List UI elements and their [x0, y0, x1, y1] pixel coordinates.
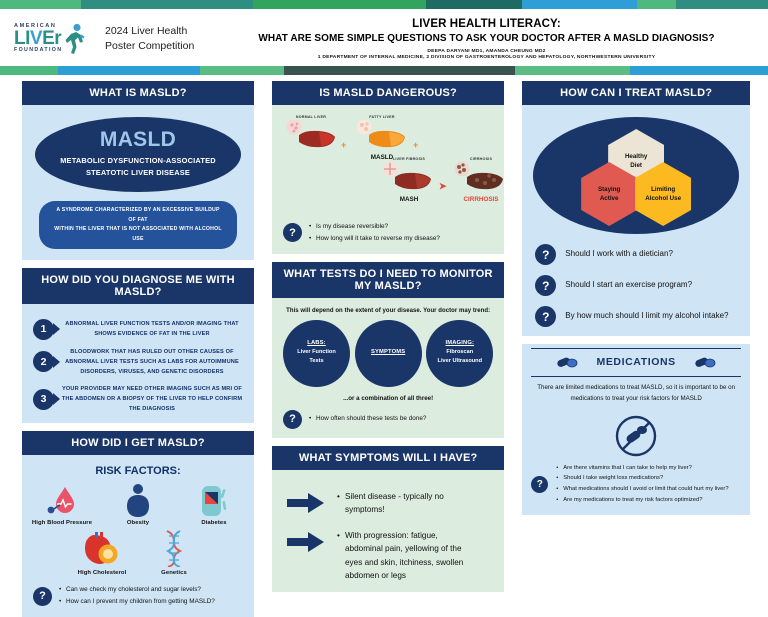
risk-factor-item: Diabetes	[183, 481, 245, 526]
hexagon-line-2: Alcohol Use	[645, 194, 681, 203]
stripe-segment	[58, 66, 200, 75]
diagnosis-number-3: 3	[33, 389, 54, 410]
medications-title: MEDICATIONS	[596, 356, 675, 368]
tests-combination-note: ...or a combination of all three!	[281, 395, 495, 402]
risk-factors-title: RISK FACTORS:	[31, 465, 245, 477]
stripe-segment	[0, 0, 81, 9]
treatment-question: By how much should I limit my alcohol in…	[565, 310, 728, 323]
section-what-is-masld: WHAT IS MASLD? MASLD METABOLIC DYSFUNCTI…	[22, 81, 254, 260]
masld-oval: MASLD METABOLIC DYSFUNCTION-ASSOCIATED S…	[35, 117, 241, 192]
section-is-masld-dangerous: IS MASLD DANGEROUS? NORMAL LIVER	[272, 81, 504, 254]
stripe-segment	[530, 0, 638, 9]
test-circle-line: Fibroscan	[446, 348, 473, 357]
medications-questions: ? Are there vitamins that I can take to …	[531, 463, 741, 506]
pill-icon-right	[694, 354, 716, 370]
liver-stage-name: MASH	[381, 196, 437, 203]
alf-logo: AMERICAN LIVEr FOUNDATION	[14, 23, 94, 55]
question-item: Are my medications to treat my risk fact…	[556, 495, 728, 506]
stripe-segment	[284, 66, 514, 75]
middle-column: IS MASLD DANGEROUS? NORMAL LIVER	[272, 81, 504, 617]
question-mark-icon: ?	[283, 410, 302, 429]
risk-factor-item: High Cholesterol	[71, 531, 133, 576]
mid-stripe-bar	[0, 66, 768, 75]
liver-stage-4: CIRRHOSIS CIRRHOSIS	[453, 157, 509, 203]
liver-stage-2: FATTY LIVER MASLD	[355, 115, 409, 161]
hexagon-line-2: Diet	[630, 161, 642, 170]
body-what-is-masld: MASLD METABOLIC DYSFUNCTION-ASSOCIATED S…	[22, 105, 254, 260]
tests-intro: This will depend on the extent of your d…	[281, 308, 495, 314]
stripe-segment	[630, 66, 768, 75]
tests-circle-row: LABS: Liver Function Tests SYMPTOMS IMAG…	[281, 320, 495, 387]
plus-sign-1: +	[341, 140, 346, 150]
obesity-icon	[107, 481, 169, 517]
question-list: Can we check my cholesterol and sugar le…	[59, 584, 215, 608]
heading-is-masld-dangerous: IS MASLD DANGEROUS?	[272, 81, 504, 105]
question-item: Are there vitamins that I can take to he…	[556, 463, 728, 474]
title-block: LIVER HEALTH LITERACY: WHAT ARE SOME SIM…	[215, 17, 768, 61]
logo-liver-text: LIVEr	[14, 31, 62, 47]
liver-stage-3: LIVER FIBROSIS MASH	[381, 157, 437, 203]
question-mark-icon: ?	[535, 306, 556, 327]
masld-definition-line-1: A SYNDROME CHARACTERIZED BY AN EXCESSIVE…	[53, 206, 223, 225]
question-mark-icon: ?	[531, 476, 548, 493]
body-symptoms: Silent disease - typically no symptoms! …	[272, 470, 504, 592]
stripe-segment	[426, 0, 522, 9]
heading-symptoms: WHAT SYMPTOMS WILL I HAVE?	[272, 446, 504, 470]
stripe-segment	[515, 66, 630, 75]
risk-factor-item: Genetics	[143, 531, 205, 576]
test-circle-labs: LABS: Liver Function Tests	[283, 320, 350, 387]
question-item: How can I prevent my children from getti…	[59, 596, 215, 608]
treatment-oval: Healthy Diet Staying Active Limiting Alc…	[533, 117, 739, 234]
test-circle-title: SYMPTOMS	[371, 349, 405, 355]
risk-factor-label: High Cholesterol	[71, 570, 133, 576]
heading-treatment: HOW CAN I TREAT MASLD?	[522, 81, 750, 105]
section-tests: WHAT TESTS DO I NEED TO MONITOR MY MASLD…	[272, 262, 504, 438]
poster-header: AMERICAN LIVEr FOUNDATION 2024 Liver Hea…	[0, 9, 768, 66]
question-mark-icon: ?	[33, 587, 52, 606]
question-item: Can we check my cholesterol and sugar le…	[59, 584, 215, 596]
stripe-segment	[676, 0, 768, 9]
logo-foundation-text: FOUNDATION	[14, 48, 62, 53]
pill-icon-left	[556, 354, 578, 370]
risk-factor-item: High Blood Pressure	[31, 481, 93, 526]
risk-factor-label: High Blood Pressure	[31, 520, 93, 526]
liver-stage-name: CIRRHOSIS	[453, 196, 509, 203]
test-circle-symptoms: SYMPTOMS	[355, 320, 422, 387]
medications-header: MEDICATIONS	[531, 348, 741, 377]
test-circle-line: Tests	[309, 357, 323, 366]
masld-expansion: METABOLIC DYSFUNCTION-ASSOCIATED STEATOT…	[47, 155, 229, 179]
glucose-meter-icon	[183, 481, 245, 517]
section-how-did-i-get-masld: HOW DID I GET MASLD? RISK FACTORS:	[22, 431, 254, 617]
risk-factor-label: Genetics	[143, 570, 205, 576]
heading-how-did-i-get-masld: HOW DID I GET MASLD?	[22, 431, 254, 455]
medications-intro: There are limited medications to treat M…	[533, 383, 739, 405]
heading-what-is-masld: WHAT IS MASLD?	[22, 81, 254, 105]
arrow-right-icon: ➤	[439, 181, 447, 192]
question-item: What medications should I avoid or limit…	[556, 484, 728, 495]
symptom-text: Silent disease - typically no symptoms!	[337, 490, 465, 517]
stripe-segment	[637, 0, 675, 9]
diagnosis-number-2: 2	[33, 351, 54, 372]
risk-factor-row-1: High Blood Pressure Obesity	[31, 481, 245, 526]
test-circle-title: IMAGING:	[445, 340, 474, 346]
risk-factor-row-2: High Cholesterol Genetics	[31, 531, 245, 576]
stripe-segment	[81, 0, 254, 9]
question-list: How often should these tests be done?	[309, 413, 427, 425]
poster-affiliations: 1 DEPARTMENT OF INTERNAL MEDICINE, 2 DIV…	[215, 55, 758, 60]
liver-stage-1: NORMAL LIVER	[285, 115, 337, 154]
arrow-right-icon	[287, 531, 325, 553]
question-mark-icon: ?	[535, 244, 556, 265]
question-item: Should I take weight loss medications?	[556, 473, 728, 484]
section-diagnosis: HOW DID YOU DIAGNOSE ME WITH MASLD? 1 AB…	[22, 268, 254, 423]
left-column: WHAT IS MASLD? MASLD METABOLIC DYSFUNCTI…	[22, 81, 254, 617]
masld-expansion-line-2: STEATOTIC LIVER DISEASE	[47, 167, 229, 179]
treatment-question: Should I work with a dietician?	[565, 248, 673, 261]
symptom-text: With progression: fatigue, abdominal pai…	[337, 529, 465, 583]
hexagon-line-1: Staying	[598, 185, 620, 194]
plus-sign-2: +	[413, 140, 418, 150]
section-medications: MEDICATIONS There are limited medication…	[522, 344, 750, 515]
question-item: Is my disease reversible?	[309, 221, 440, 233]
competition-title: 2024 Liver Health Poster Competition	[105, 24, 215, 52]
section-treatment: HOW CAN I TREAT MASLD? Healthy Diet Stay…	[522, 81, 750, 336]
test-circle-imaging: IMAGING: Fibroscan Liver Ultrasound	[426, 320, 493, 387]
stripe-segment	[0, 66, 58, 75]
how-did-i-get-questions: ? Can we check my cholesterol and sugar …	[31, 584, 245, 608]
heading-diagnosis: HOW DID YOU DIAGNOSE ME WITH MASLD?	[22, 268, 254, 304]
body-treatment: Healthy Diet Staying Active Limiting Alc…	[522, 105, 750, 336]
no-pills-icon	[613, 413, 659, 459]
dna-icon	[143, 531, 205, 567]
masld-acronym: MASLD	[47, 129, 229, 150]
poster-subtitle: WHAT ARE SOME SIMPLE QUESTIONS TO ASK YO…	[215, 32, 758, 45]
blood-pressure-icon	[31, 481, 93, 517]
question-item: How often should these tests be done?	[309, 413, 427, 425]
diagnosis-number-1: 1	[33, 319, 54, 340]
competition-line-2: Poster Competition	[105, 39, 215, 53]
fibrosis-liver-icon	[381, 161, 437, 191]
question-list: Are there vitamins that I can take to he…	[556, 463, 728, 506]
stripe-segment	[522, 0, 530, 9]
normal-liver-icon	[285, 119, 337, 149]
top-stripe-bar	[0, 0, 768, 9]
fatty-liver-icon	[355, 119, 409, 149]
treatment-hexagons: Healthy Diet Staying Active Limiting Alc…	[580, 129, 692, 221]
question-list: Is my disease reversible? How long will …	[309, 221, 440, 245]
no-medication-symbol	[531, 413, 741, 459]
question-mark-icon: ?	[535, 275, 556, 296]
diagnosis-item: 2 BLOODWORK THAT HAS RULED OUT OTHER CAU…	[33, 347, 243, 377]
masld-definition: A SYNDROME CHARACTERIZED BY AN EXCESSIVE…	[39, 201, 237, 248]
body-tests: This will depend on the extent of your d…	[272, 298, 504, 438]
body-is-masld-dangerous: NORMAL LIVER + FATTY LIVER	[272, 105, 504, 254]
section-symptoms: WHAT SYMPTOMS WILL I HAVE? Silent diseas…	[272, 446, 504, 592]
diagnosis-text-3: YOUR PROVIDER MAY NEED OTHER IMAGING SUC…	[61, 384, 243, 414]
right-column: HOW CAN I TREAT MASLD? Healthy Diet Stay…	[522, 81, 750, 617]
diagnosis-item: 3 YOUR PROVIDER MAY NEED OTHER IMAGING S…	[33, 384, 243, 414]
treatment-question-row: ? By how much should I limit my alcohol …	[535, 306, 737, 327]
stripe-segment	[253, 0, 426, 9]
diagnosis-text-2: BLOODWORK THAT HAS RULED OUT OTHER CAUSE…	[61, 347, 243, 377]
dangerous-questions: ? Is my disease reversible? How long wil…	[281, 221, 495, 245]
poster-authors: DEEPA DARYANI MD1, AMANDA CHEUNG MD2	[215, 49, 758, 54]
question-mark-icon: ?	[283, 223, 302, 242]
hexagon-line-1: Healthy	[625, 152, 647, 161]
arrow-right-icon	[287, 492, 325, 514]
symptom-row: With progression: fatigue, abdominal pai…	[281, 529, 495, 583]
cirrhosis-liver-icon	[453, 161, 509, 191]
risk-factor-label: Obesity	[107, 520, 169, 526]
question-item: How long will it take to reverse my dise…	[309, 233, 440, 245]
poster-columns: WHAT IS MASLD? MASLD METABOLIC DYSFUNCTI…	[0, 75, 768, 617]
heart-icon	[71, 531, 133, 567]
test-circle-line: Liver Ultrasound	[438, 357, 482, 366]
runner-icon	[63, 23, 85, 55]
poster-title: LIVER HEALTH LITERACY:	[215, 17, 758, 31]
heading-tests: WHAT TESTS DO I NEED TO MONITOR MY MASLD…	[272, 262, 504, 298]
test-circle-line: Liver Function	[297, 348, 336, 357]
competition-line-1: 2024 Liver Health	[105, 24, 215, 38]
stripe-segment	[200, 66, 284, 75]
body-how-did-i-get-masld: RISK FACTORS: High Blood Pressure	[22, 455, 254, 617]
diagnosis-text-1: ABNORMAL LIVER FUNCTION TESTS AND/OR IMA…	[61, 319, 243, 339]
body-diagnosis: 1 ABNORMAL LIVER FUNCTION TESTS AND/OR I…	[22, 304, 254, 423]
diagnosis-item: 1 ABNORMAL LIVER FUNCTION TESTS AND/OR I…	[33, 319, 243, 340]
treatment-question-row: ? Should I work with a dietician?	[535, 244, 737, 265]
masld-expansion-line-1: METABOLIC DYSFUNCTION-ASSOCIATED	[47, 155, 229, 167]
liver-progression-diagram: NORMAL LIVER + FATTY LIVER	[281, 113, 495, 213]
risk-factor-item: Obesity	[107, 481, 169, 526]
treatment-question-row: ? Should I start an exercise program?	[535, 275, 737, 296]
symptom-row: Silent disease - typically no symptoms!	[281, 490, 495, 517]
risk-factor-label: Diabetes	[183, 520, 245, 526]
tests-questions: ? How often should these tests be done?	[281, 410, 495, 429]
masld-definition-line-2: WITHIN THE LIVER THAT IS NOT ASSOCIATED …	[53, 225, 223, 244]
hexagon-line-1: Limiting	[651, 185, 675, 194]
hexagon-line-2: Active	[600, 194, 619, 203]
treatment-question: Should I start an exercise program?	[565, 279, 692, 292]
test-circle-title: LABS:	[307, 340, 325, 346]
